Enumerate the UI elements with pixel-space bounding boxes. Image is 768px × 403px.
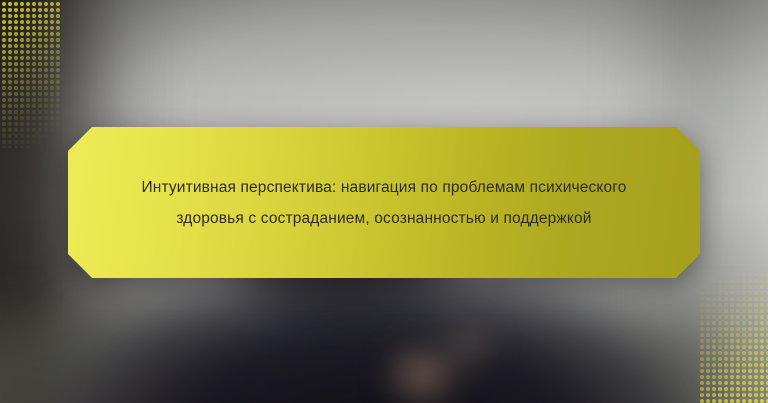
page-title: Интуитивная перспектива: навигация по пр… [68, 127, 700, 278]
title-banner: Интуитивная перспектива: навигация по пр… [68, 127, 700, 278]
slide-canvas: Интуитивная перспектива: навигация по пр… [0, 0, 768, 403]
